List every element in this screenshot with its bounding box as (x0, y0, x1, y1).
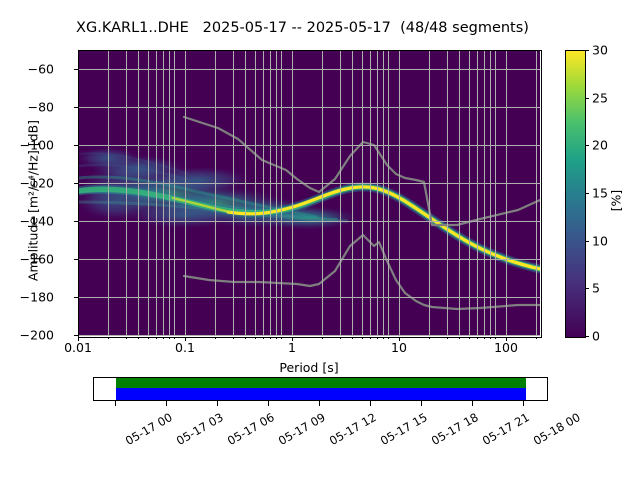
timeline-tick-label: 05-17 06 (225, 410, 277, 448)
xtick-label: 100 (494, 340, 518, 355)
xtick-mark-minor (383, 337, 384, 339)
timeline-tick-label: 05-17 15 (378, 410, 430, 448)
gridline-x (255, 50, 256, 336)
timeline-tick-mark (472, 401, 473, 406)
gridline-x (233, 50, 234, 336)
colorbar-tick-mark (585, 145, 589, 146)
ytick-mark (74, 145, 78, 146)
timeline-tick-mark (421, 401, 422, 406)
page-title: XG.KARL1..DHE 2025-05-17 -- 2025-05-17 (… (0, 20, 605, 36)
gridline-x (352, 50, 353, 336)
xtick-mark-minor (322, 337, 323, 339)
colorbar-tick-label: 25 (592, 91, 608, 106)
gridline-x (459, 50, 460, 336)
gridline-x (362, 50, 363, 336)
xtick-mark-minor (362, 337, 363, 339)
ppsd-plot-figure: XG.KARL1..DHE 2025-05-17 -- 2025-05-17 (… (0, 0, 640, 480)
xtick-mark-minor (233, 337, 234, 339)
colorbar-tick-mark (585, 288, 589, 289)
xtick-mark-minor (429, 337, 430, 339)
gridline-x (490, 50, 491, 336)
timeline-tick-mark (268, 401, 269, 406)
gridline-x (78, 50, 79, 336)
xtick-mark-minor (447, 337, 448, 339)
xtick-mark-minor (276, 337, 277, 339)
gridline-x (126, 50, 127, 336)
xtick-mark-minor (148, 337, 149, 339)
gridline-x (276, 50, 277, 336)
xtick-mark-minor (126, 337, 127, 339)
coverage-bar-green (116, 378, 526, 388)
gridline-x-major (185, 50, 186, 336)
xtick-label: 0.01 (64, 340, 92, 355)
xtick-mark-minor (169, 337, 170, 339)
xtick-mark-minor (174, 337, 175, 339)
xtick-mark-minor (377, 337, 378, 339)
gridline-x (429, 50, 430, 336)
gridline-x (322, 50, 323, 336)
colorbar-tick-label: 0 (592, 329, 600, 344)
timeline-tick-label: 05-17 09 (276, 410, 328, 448)
y-axis-label: Amplitude [m²/s⁴/Hz] [dB] (26, 58, 41, 344)
timeline-tick-label: 05-17 18 (429, 410, 481, 448)
timeline-tick-mark (115, 401, 116, 406)
xtick-mark-minor (459, 337, 460, 339)
gridline-y (78, 297, 540, 298)
timeline-tick-mark (217, 401, 218, 406)
xtick-mark-minor (388, 337, 389, 339)
ppsd-density-axes (78, 50, 540, 336)
xtick-mark-minor (281, 337, 282, 339)
xtick-mark-minor (490, 337, 491, 339)
gridline-x (174, 50, 175, 336)
gridline-x (477, 50, 478, 336)
gridline-x (281, 50, 282, 336)
xtick-mark-minor (469, 337, 470, 339)
gridline-x (108, 50, 109, 336)
gridline-x (263, 50, 264, 336)
gridline-x (340, 50, 341, 336)
ytick-mark (74, 297, 78, 298)
gridline-y (78, 107, 540, 108)
colorbar-tick-mark (585, 50, 589, 51)
gridline-x (484, 50, 485, 336)
colorbar-tick-mark (585, 241, 589, 242)
colorbar-tick-label: 30 (592, 43, 608, 58)
coverage-bar-blue (116, 388, 526, 400)
gridline-y (78, 335, 540, 336)
xtick-mark-minor (156, 337, 157, 339)
ytick-mark (74, 221, 78, 222)
colorbar[interactable] (565, 50, 586, 338)
xtick-mark-minor (263, 337, 264, 339)
timeline-tick-label: 05-17 00 (123, 410, 175, 448)
gridline-y (78, 259, 540, 260)
timeline-tick-mark (523, 401, 524, 406)
gridline-y (78, 183, 540, 184)
ytick-mark (74, 183, 78, 184)
ytick-mark (74, 69, 78, 70)
colorbar-tick-label: 10 (592, 234, 608, 249)
xtick-mark-minor (340, 337, 341, 339)
xtick-label: 1 (288, 340, 296, 355)
ytick-mark (74, 107, 78, 108)
colorbar-label: [%] (609, 151, 624, 251)
xtick-label: 0.1 (175, 340, 195, 355)
xtick-mark-minor (138, 337, 139, 339)
colorbar-tick-mark (585, 336, 589, 337)
gridline-x (469, 50, 470, 336)
gridline-x (388, 50, 389, 336)
xtick-mark-minor (270, 337, 271, 339)
gridline-x (536, 50, 537, 336)
gridline-x-major (292, 50, 293, 336)
xtick-mark-minor (245, 337, 246, 339)
timeline-tick-label: 05-17 03 (174, 410, 226, 448)
colorbar-tick-mark (585, 193, 589, 194)
gridline-y (78, 221, 540, 222)
gridline-x (447, 50, 448, 336)
xtick-mark-minor (477, 337, 478, 339)
gridline-x (169, 50, 170, 336)
x-axis-label: Period [s] (78, 360, 540, 375)
ytick-mark (74, 259, 78, 260)
gridline-y (78, 69, 540, 70)
timeline-tick-mark (319, 401, 320, 406)
gridline-x (377, 50, 378, 336)
timeline-tick-label: 05-17 12 (327, 410, 379, 448)
gridline-y (78, 145, 540, 146)
colorbar-tick-label: 15 (592, 186, 608, 201)
xtick-mark-minor (484, 337, 485, 339)
timeline-tick-label: 05-17 21 (480, 410, 532, 448)
xtick-mark-minor (215, 337, 216, 339)
colorbar-tick-mark (585, 98, 589, 99)
gridline-x (495, 50, 496, 336)
gridline-x (148, 50, 149, 336)
timeline-tick-label: 05-18 00 (531, 410, 583, 448)
gridline-x (156, 50, 157, 336)
gridline-x (215, 50, 216, 336)
timeline-tick-mark (370, 401, 371, 406)
xtick-mark-minor (108, 337, 109, 339)
gridline-x (245, 50, 246, 336)
xtick-mark-minor (352, 337, 353, 339)
xtick-mark-minor (370, 337, 371, 339)
colorbar-tick-label: 5 (592, 281, 600, 296)
xtick-label: 10 (391, 340, 407, 355)
ytick-mark (74, 335, 78, 336)
gridline-x-major (506, 50, 507, 336)
xtick-mark-minor (495, 337, 496, 339)
gridline-x-major (399, 50, 400, 336)
gridline-x (370, 50, 371, 336)
xtick-mark-minor (163, 337, 164, 339)
colorbar-tick-label: 20 (592, 138, 608, 153)
xtick-mark-minor (255, 337, 256, 339)
xtick-mark-minor (536, 337, 537, 339)
timeline-tick-mark (166, 401, 167, 406)
gridline-x (383, 50, 384, 336)
gridline-x (138, 50, 139, 336)
coverage-timeline-axes[interactable] (93, 377, 548, 401)
gridline-x (270, 50, 271, 336)
gridline-x (163, 50, 164, 336)
